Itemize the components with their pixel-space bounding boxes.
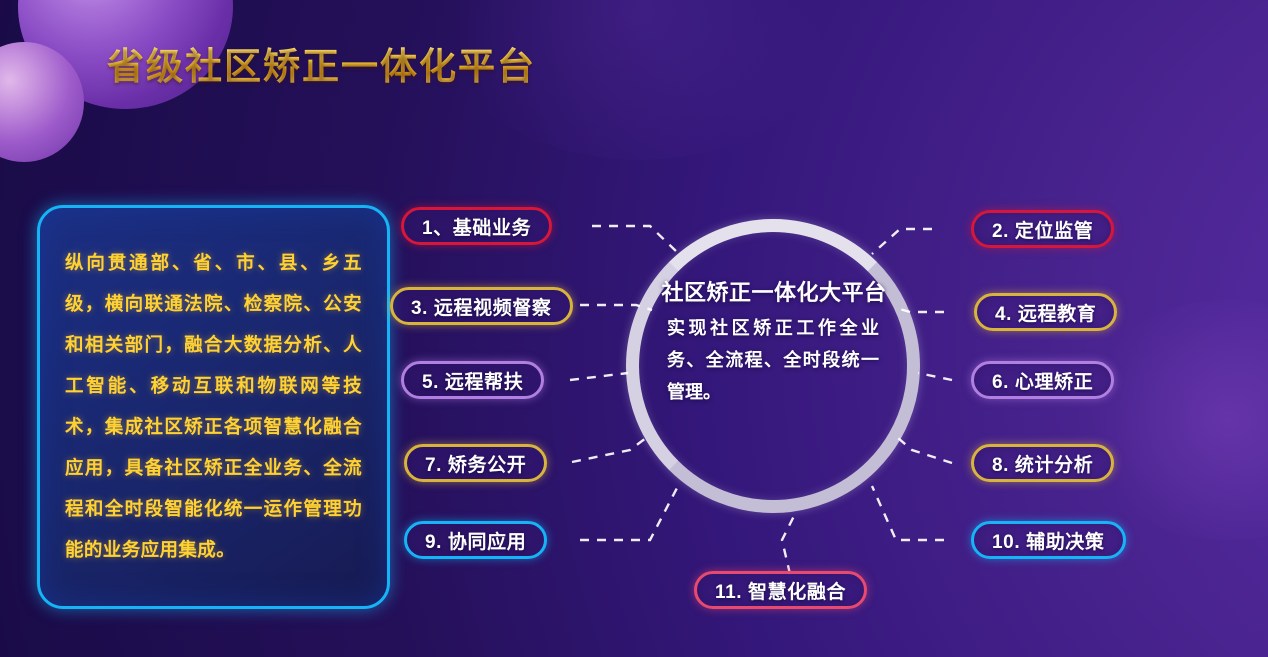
- description-panel: 纵向贯通部、省、市、县、乡五级，横向联通法院、检察院、公安和相关部门，融合大数据…: [37, 205, 390, 609]
- connector-node-2: [872, 229, 932, 254]
- connector-node-9: [580, 486, 678, 540]
- connector-node-6: [918, 373, 952, 380]
- node-pill-label-9: 9. 协同应用: [425, 527, 526, 554]
- node-pill-label-11: 11. 智慧化融合: [715, 577, 846, 604]
- node-pill-label-10: 10. 辅助决策: [992, 527, 1105, 554]
- node-pill-label-8: 8. 统计分析: [992, 450, 1093, 477]
- node-pill-label-1: 1、基础业务: [422, 213, 531, 240]
- node-pill-7[interactable]: 7. 矫务公开: [404, 444, 547, 482]
- node-pill-5[interactable]: 5. 远程帮扶: [401, 361, 544, 399]
- node-pill-11[interactable]: 11. 智慧化融合: [694, 571, 867, 609]
- connector-node-5: [570, 373, 628, 380]
- node-pill-9[interactable]: 9. 协同应用: [404, 521, 547, 559]
- node-pill-4[interactable]: 4. 远程教育: [974, 293, 1117, 331]
- connector-node-10: [872, 486, 944, 540]
- connector-node-7: [572, 438, 646, 462]
- node-pill-3[interactable]: 3. 远程视频督察: [390, 287, 573, 325]
- description-panel-text: 纵向贯通部、省、市、县、乡五级，横向联通法院、检察院、公安和相关部门，融合大数据…: [65, 242, 362, 570]
- node-pill-label-2: 2. 定位监管: [992, 216, 1093, 243]
- page-title: 省级社区矫正一体化平台: [107, 36, 536, 90]
- decorative-circle-small: [0, 42, 84, 162]
- node-pill-label-7: 7. 矫务公开: [425, 450, 526, 477]
- connector-node-8: [898, 438, 952, 463]
- node-pill-label-3: 3. 远程视频督察: [411, 293, 552, 320]
- node-pill-label-5: 5. 远程帮扶: [422, 367, 523, 394]
- center-body: 实现社区矫正工作全业务、全流程、全时段统一管理。: [667, 312, 879, 408]
- center-text-block: 社区矫正一体化大平台 实现社区矫正工作全业务、全流程、全时段统一管理。: [626, 278, 920, 408]
- node-pill-10[interactable]: 10. 辅助决策: [971, 521, 1126, 559]
- node-pill-6[interactable]: 6. 心理矫正: [971, 361, 1114, 399]
- decorative-glow-right: [1078, 300, 1268, 540]
- node-pill-label-4: 4. 远程教育: [995, 299, 1096, 326]
- slide-canvas: 省级社区矫正一体化平台 纵向贯通部、省、市、县、乡五级，横向联通法院、检察院、公…: [0, 0, 1268, 657]
- center-heading: 社区矫正一体化大平台: [628, 278, 920, 308]
- node-pill-label-6: 6. 心理矫正: [992, 367, 1093, 394]
- connector-node-11: [782, 512, 796, 574]
- node-pill-1[interactable]: 1、基础业务: [401, 207, 552, 245]
- node-pill-8[interactable]: 8. 统计分析: [971, 444, 1114, 482]
- node-pill-2[interactable]: 2. 定位监管: [971, 210, 1114, 248]
- connector-node-1: [592, 226, 678, 253]
